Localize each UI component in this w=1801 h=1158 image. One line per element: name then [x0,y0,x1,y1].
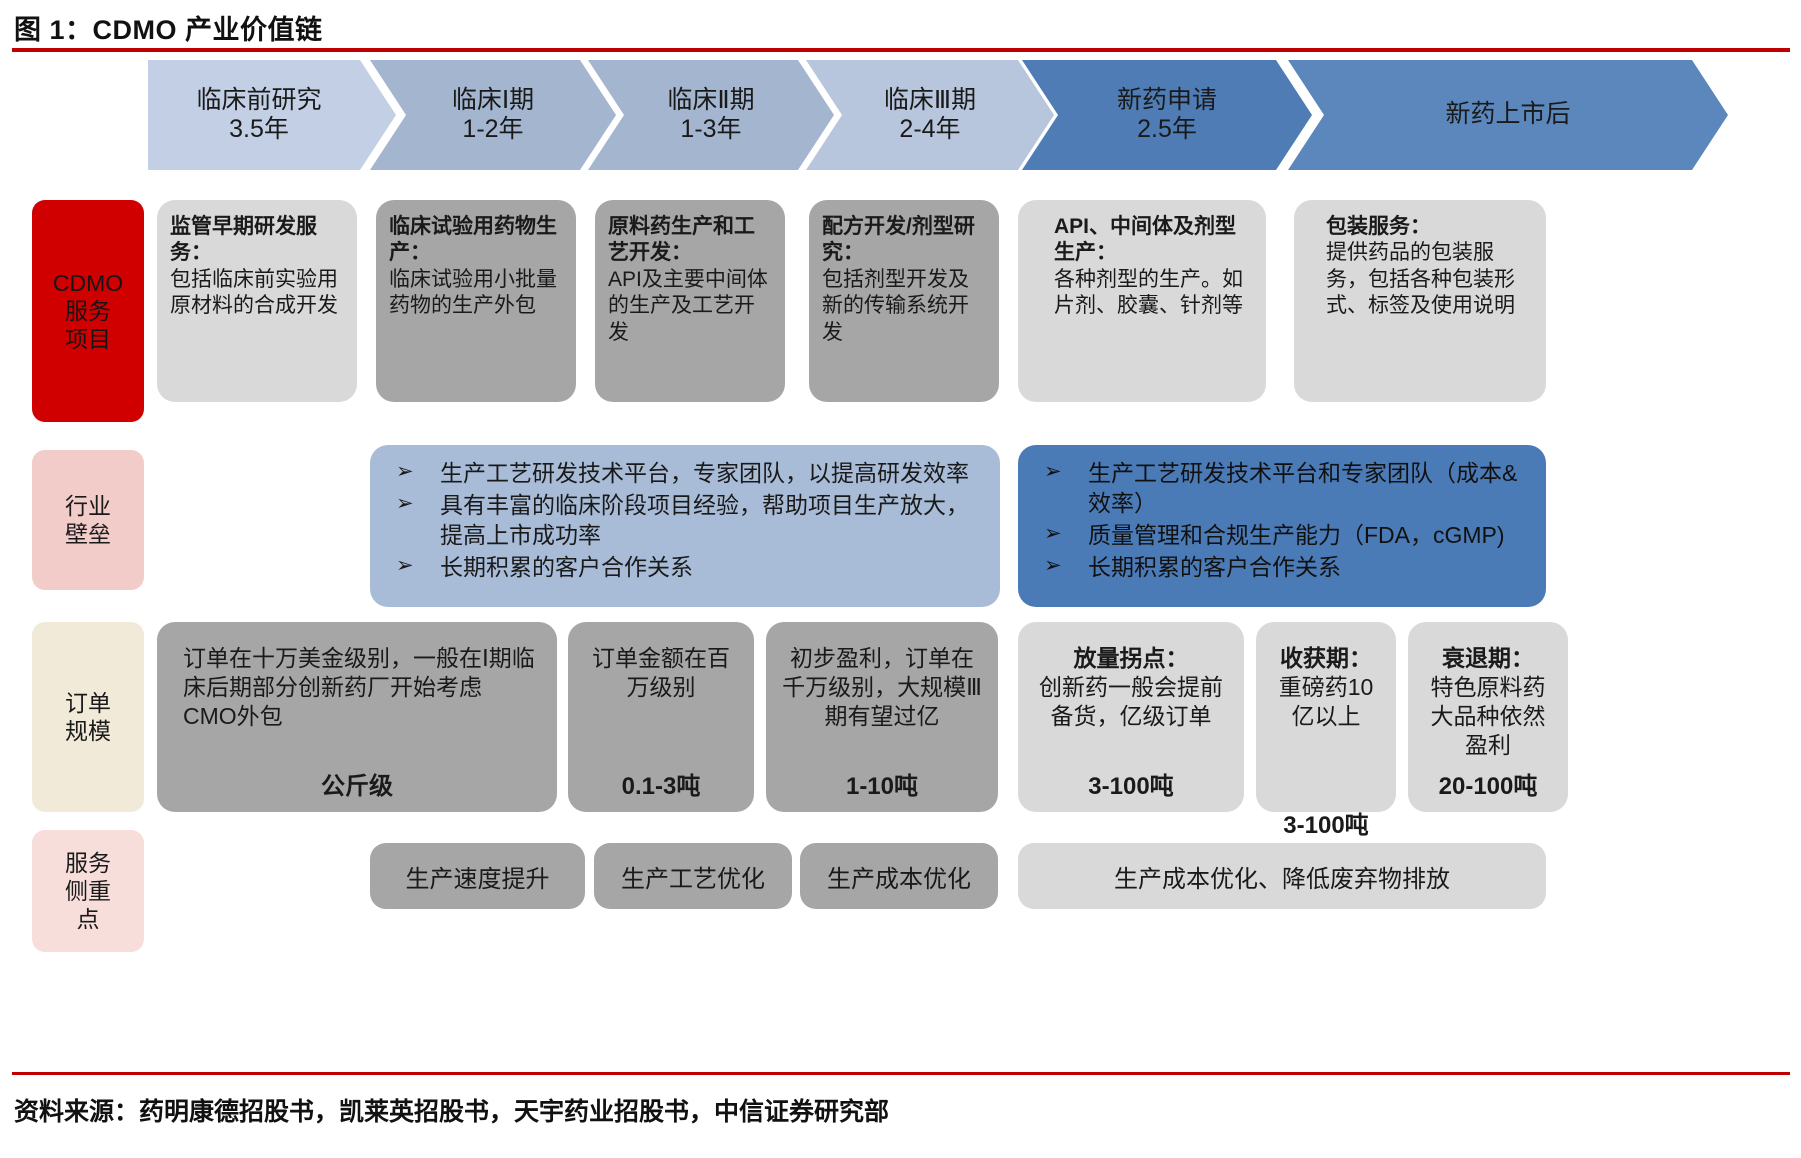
order-card-4-scale: 3-100吨 [1256,805,1396,840]
service-card-0[interactable]: 监管早期研发服务： 包括临床前实验用原材料的合成开发 [157,200,357,402]
order-card-3-scale: 3-100吨 [1018,766,1244,801]
bullet-arrow-icon: ➢ [396,490,414,517]
service-card-4[interactable]: API、中间体及剂型生产： 各种剂型的生产。如片剂、胶囊、针剂等 [1018,200,1266,402]
order-card-4-body: 重磅药10亿以上 [1269,673,1383,731]
stage-arrow-band: 临床前研究 3.5年 临床Ⅰ期 1-2年 临床Ⅱ期 1-3年 临床Ⅲ期 2-4年 [0,60,1801,170]
barrier-item: ➢ 生产工艺研发技术平台，专家团队，以提高研发效率 [388,459,982,489]
stage-duration-1: 1-2年 [452,115,534,145]
barrier-item-text: 质量管理和合规生产能力（FDA，cGMP) [1088,522,1505,548]
barrier-item-text: 长期积累的客户合作关系 [1088,554,1341,580]
service-card-0-body: 包括临床前实验用原材料的合成开发 [170,267,344,320]
stage-name-2: 临床Ⅱ期 [667,86,754,116]
barrier-item-text: 生产工艺研发技术平台和专家团队（成本&效率） [1088,460,1517,516]
barrier-item-text: 具有丰富的临床阶段项目经验，帮助项目生产放大，提高上市成功率 [440,492,969,548]
service-card-3-head: 配方开发/剂型研究： [822,214,986,267]
order-card-1-scale: 0.1-3吨 [568,766,754,801]
stage-duration-2: 1-3年 [667,115,754,145]
stage-duration-4: 2.5年 [1117,115,1217,145]
bullet-arrow-icon: ➢ [1044,458,1062,485]
service-card-3-body: 包括剂型开发及新的传输系统开发 [822,267,986,346]
focus-card-1[interactable]: 生产工艺优化 [594,843,792,909]
focus-card-0-text: 生产速度提升 [406,859,550,894]
row-label-barriers-text: 行业 壁垒 [65,492,111,548]
order-card-5-head: 衰退期： [1421,644,1555,673]
figure-canvas: 图 1：CDMO 产业价值链 临床前研究 3.5年 临床Ⅰ期 1-2年 临床Ⅱ期… [0,0,1801,1158]
service-card-5-body: 提供药品的包装服务，包括各种包装形式、标签及使用说明 [1326,240,1533,319]
row-label-orders-text: 订单 规模 [65,689,111,745]
stage-name-1: 临床Ⅰ期 [452,86,534,116]
order-card-5-scale: 20-100吨 [1408,766,1568,801]
service-card-1[interactable]: 临床试验用药物生产： 临床试验用小批量药物的生产外包 [376,200,576,402]
barrier-item: ➢ 长期积累的客户合作关系 [388,553,982,583]
stage-chevron-3[interactable]: 临床Ⅲ期 2-4年 [806,60,1054,170]
order-card-5-body: 特色原料药大品种依然盈利 [1421,673,1555,760]
order-card-4-head: 收获期： [1269,644,1383,673]
order-card-2-body: 初步盈利，订单在千万级别，大规模Ⅲ期有望过亿 [779,644,985,731]
page-title: 图 1：CDMO 产业价值链 [14,8,323,47]
stage-name-5: 新药上市后 [1445,100,1570,130]
row-label-services: CDMO 服务 项目 [32,200,144,422]
stage-name-3: 临床Ⅲ期 [884,86,976,116]
row-label-barriers: 行业 壁垒 [32,450,144,590]
order-card-4[interactable]: 收获期： 重磅药10亿以上 [1256,622,1396,812]
service-card-3[interactable]: 配方开发/剂型研究： 包括剂型开发及新的传输系统开发 [809,200,999,402]
barrier-item-text: 长期积累的客户合作关系 [440,554,693,580]
row-label-services-text: CDMO 服务 项目 [53,269,123,353]
barrier-item: ➢ 长期积累的客户合作关系 [1036,553,1528,583]
service-card-4-head: API、中间体及剂型生产： [1054,214,1253,267]
service-card-5-head: 包装服务： [1326,214,1533,240]
focus-card-2[interactable]: 生产成本优化 [800,843,998,909]
order-card-3-body: 创新药一般会提前备货，亿级订单 [1031,673,1231,731]
row-label-focus: 服务 侧重 点 [32,830,144,952]
bullet-arrow-icon: ➢ [396,458,414,485]
bullet-arrow-icon: ➢ [1044,520,1062,547]
stage-chevron-4[interactable]: 新药申请 2.5年 [1022,60,1312,170]
order-card-0-scale: 公斤级 [157,766,557,801]
focus-card-1-text: 生产工艺优化 [621,859,765,894]
row-label-focus-text: 服务 侧重 点 [65,849,111,933]
bullet-arrow-icon: ➢ [396,552,414,579]
service-card-2[interactable]: 原料药生产和工艺开发： API及主要中间体的生产及工艺开发 [595,200,785,402]
order-card-1-body: 订单金额在百万级别 [581,644,741,702]
focus-card-0[interactable]: 生产速度提升 [370,843,585,909]
stage-chevron-2[interactable]: 临床Ⅱ期 1-3年 [588,60,834,170]
order-card-2-scale: 1-10吨 [766,766,998,801]
focus-card-3[interactable]: 生产成本优化、降低废弃物排放 [1018,843,1546,909]
stage-duration-3: 2-4年 [884,115,976,145]
service-card-0-head: 监管早期研发服务： [170,214,344,267]
service-card-5[interactable]: 包装服务： 提供药品的包装服务，包括各种包装形式、标签及使用说明 [1294,200,1546,402]
order-card-0-body: 订单在十万美金级别，一般在Ⅰ期临床后期部分创新药厂开始考虑CMO外包 [183,644,535,731]
barrier-item: ➢ 生产工艺研发技术平台和专家团队（成本&效率） [1036,459,1528,519]
stage-chevron-5[interactable]: 新药上市后 [1288,60,1728,170]
barrier-item: ➢ 质量管理和合规生产能力（FDA，cGMP) [1036,521,1528,551]
stage-name-4: 新药申请 [1117,86,1217,116]
focus-card-3-text: 生产成本优化、降低废弃物排放 [1114,859,1450,894]
barrier-block-0[interactable]: ➢ 生产工艺研发技术平台，专家团队，以提高研发效率 ➢ 具有丰富的临床阶段项目经… [370,445,1000,607]
service-card-2-head: 原料药生产和工艺开发： [608,214,772,267]
source-divider [12,1072,1790,1075]
source-note: 资料来源：药明康德招股书，凯莱英招股书，天宇药业招股书，中信证券研究部 [14,1092,889,1128]
service-card-2-body: API及主要中间体的生产及工艺开发 [608,267,772,346]
stage-chevron-1[interactable]: 临床Ⅰ期 1-2年 [370,60,616,170]
barrier-item: ➢ 具有丰富的临床阶段项目经验，帮助项目生产放大，提高上市成功率 [388,491,982,551]
order-card-3-head: 放量拐点： [1031,644,1231,673]
title-divider [12,48,1790,52]
stage-chevron-0[interactable]: 临床前研究 3.5年 [148,60,396,170]
stage-name-0: 临床前研究 [196,86,321,116]
service-card-1-body: 临床试验用小批量药物的生产外包 [389,267,563,320]
service-card-1-head: 临床试验用药物生产： [389,214,563,267]
bullet-arrow-icon: ➢ [1044,552,1062,579]
barrier-item-text: 生产工艺研发技术平台，专家团队，以提高研发效率 [440,460,969,486]
stage-duration-0: 3.5年 [196,115,321,145]
service-card-4-body: 各种剂型的生产。如片剂、胶囊、针剂等 [1054,267,1253,320]
barrier-block-1[interactable]: ➢ 生产工艺研发技术平台和专家团队（成本&效率） ➢ 质量管理和合规生产能力（F… [1018,445,1546,607]
row-label-orders: 订单 规模 [32,622,144,812]
focus-card-2-text: 生产成本优化 [827,859,971,894]
